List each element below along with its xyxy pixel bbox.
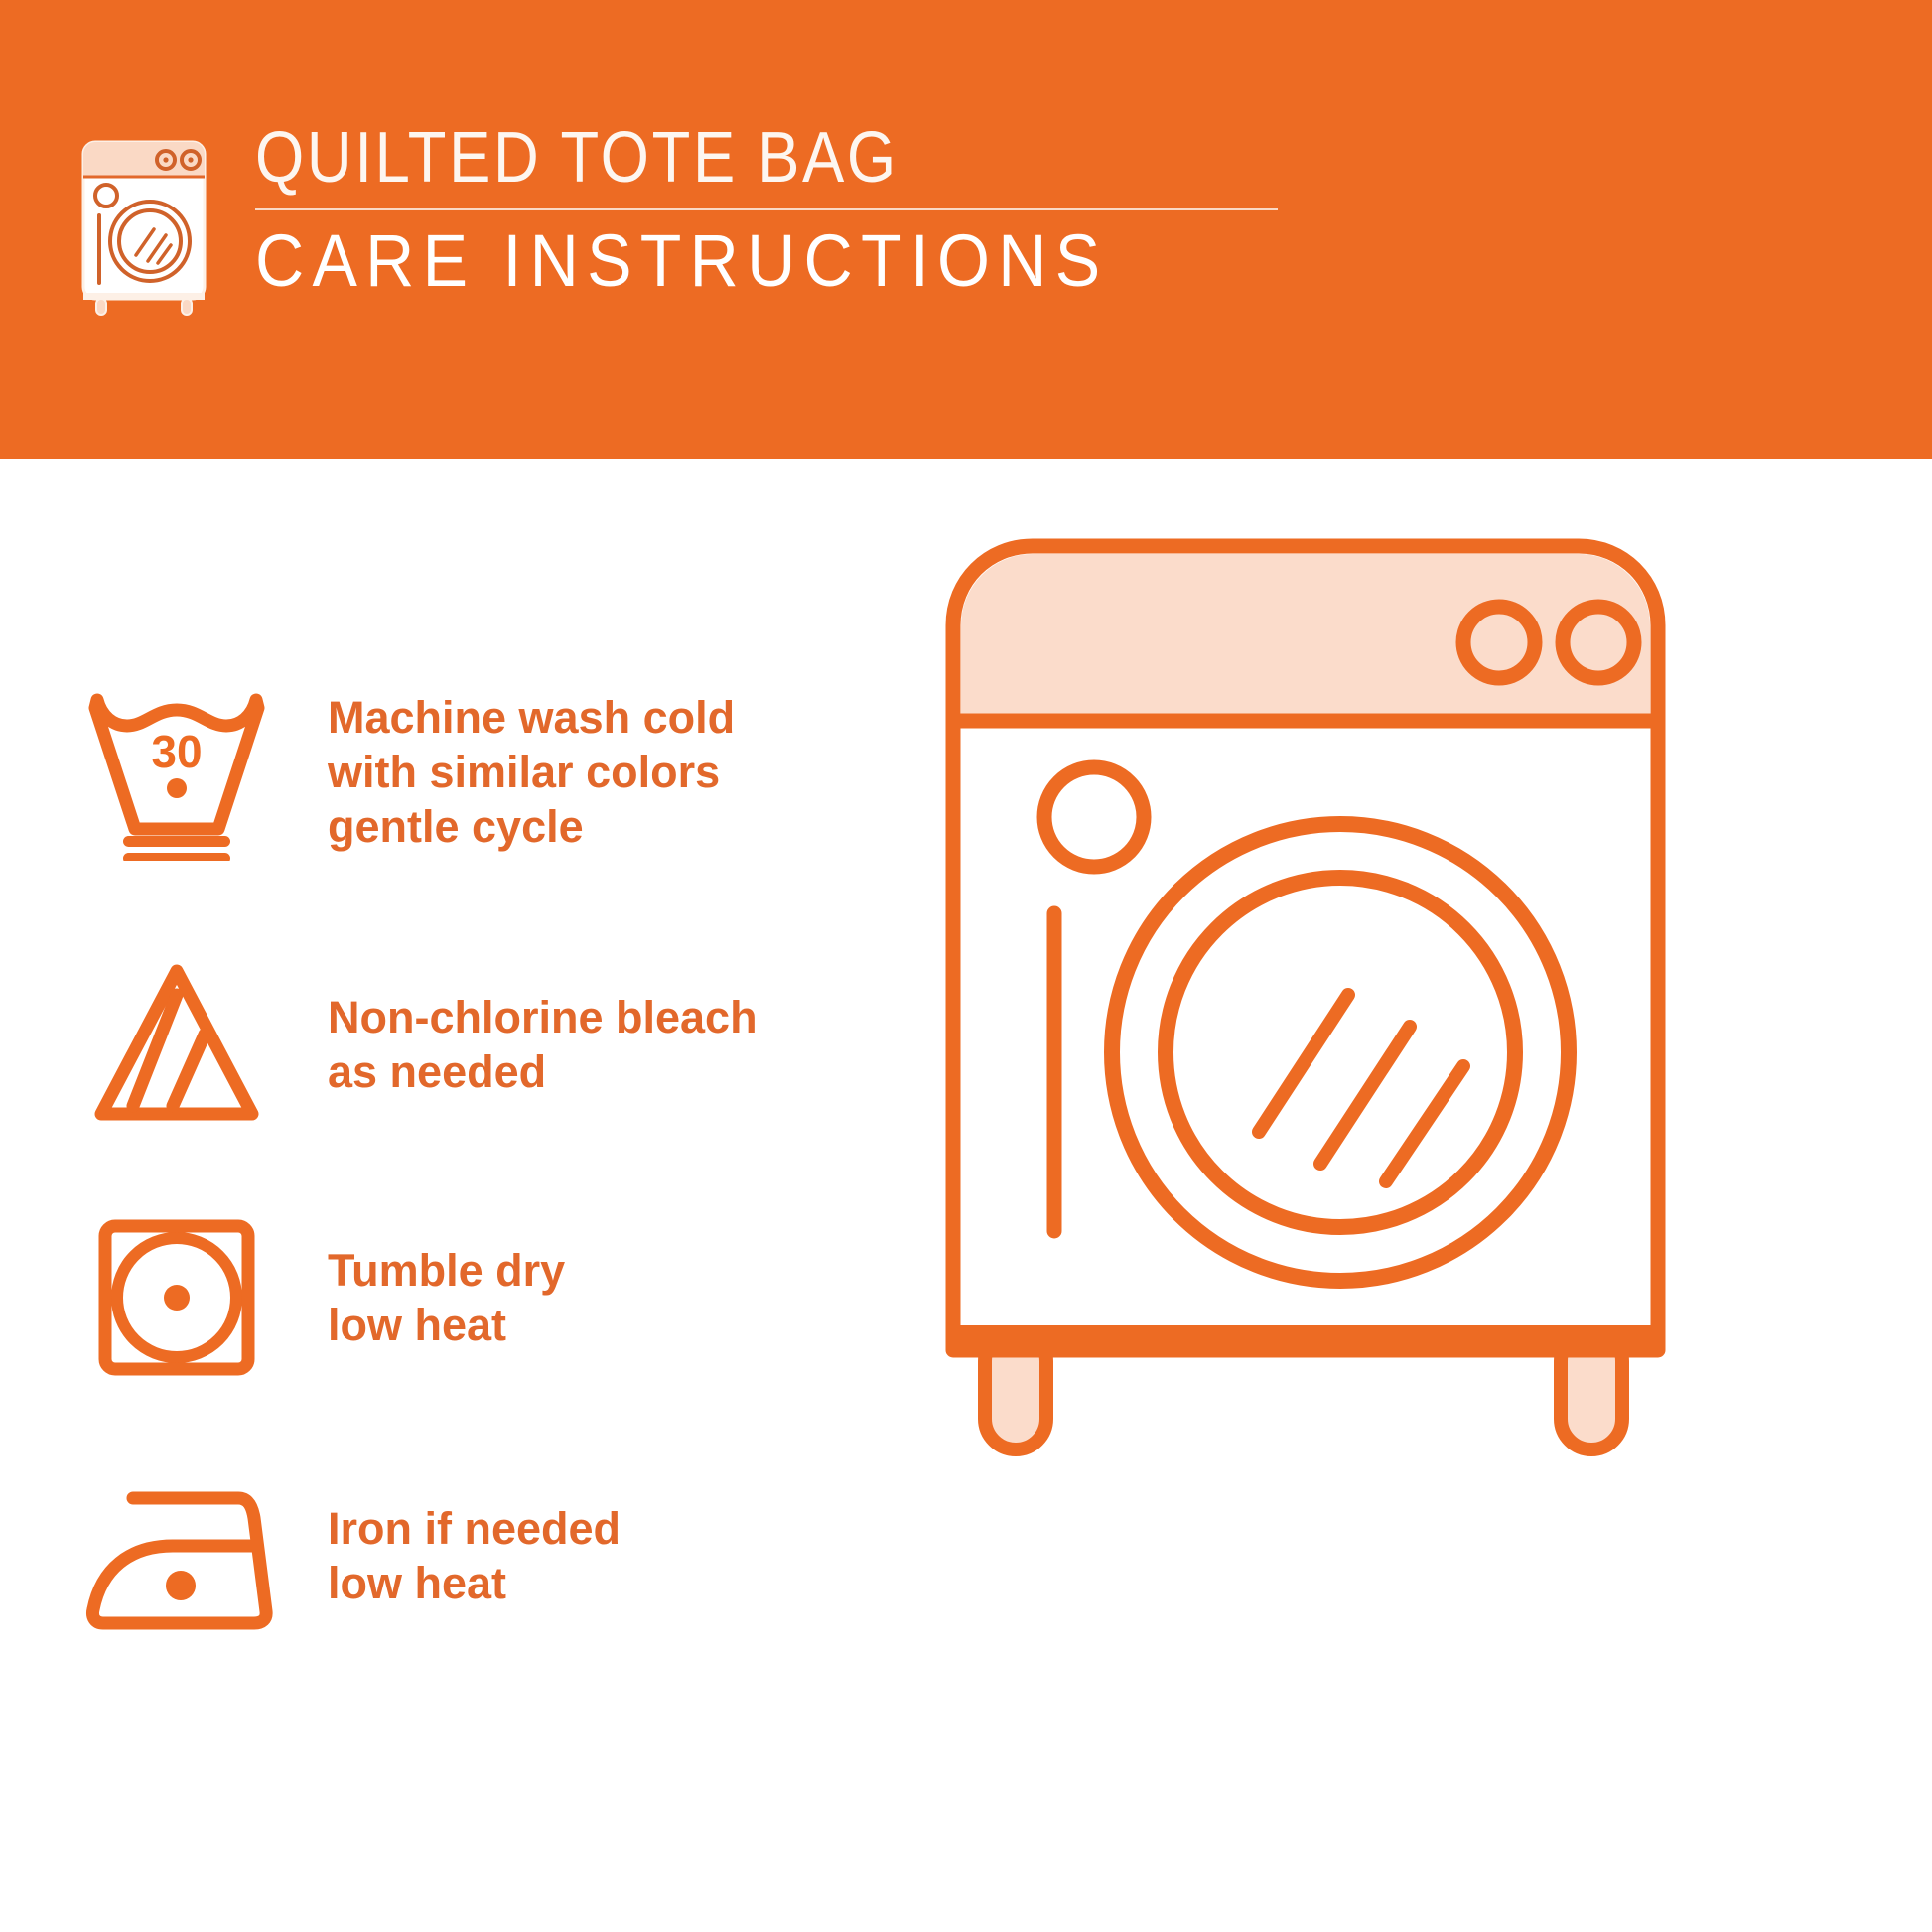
page-header: QUILTED TOTE BAG CARE INSTRUCTIONS xyxy=(0,0,1932,459)
header-content: QUILTED TOTE BAG CARE INSTRUCTIONS xyxy=(74,119,1278,318)
care-label-line: Tumble dry xyxy=(328,1243,565,1298)
washing-machine-illustration xyxy=(943,536,1737,1529)
care-label-line: as needed xyxy=(328,1044,758,1099)
care-item-label: Tumble dry low heat xyxy=(328,1243,565,1352)
care-label-line: Iron if needed xyxy=(328,1501,621,1556)
wash-temperature-value: 30 xyxy=(151,726,202,777)
care-item-label: Machine wash cold with similar colors ge… xyxy=(328,690,735,854)
care-label-line: Non-chlorine bleach xyxy=(328,990,758,1044)
page-subtitle: CARE INSTRUCTIONS xyxy=(255,220,1196,302)
care-item-iron: Iron if needed low heat xyxy=(77,1456,931,1655)
care-item-machine-wash: 30 Machine wash cold with similar colors… xyxy=(77,672,931,871)
washing-machine-icon xyxy=(74,134,213,318)
care-label-line: gentle cycle xyxy=(328,799,735,854)
page-title: QUILTED TOTE BAG xyxy=(255,119,1155,197)
care-item-tumble-dry: Tumble dry low heat xyxy=(77,1198,931,1397)
tumble-dry-low-heat-icon xyxy=(77,1198,276,1397)
iron-low-heat-icon xyxy=(77,1456,276,1655)
care-label-line: low heat xyxy=(328,1298,565,1352)
care-label-line: Machine wash cold xyxy=(328,690,735,745)
care-item-label: Non-chlorine bleach as needed xyxy=(328,990,758,1099)
care-instructions-list: 30 Machine wash cold with similar colors… xyxy=(0,459,943,1932)
wash-tub-30-gentle-icon: 30 xyxy=(77,672,276,871)
care-label-line: low heat xyxy=(328,1556,621,1610)
title-divider xyxy=(255,208,1278,210)
non-chlorine-bleach-triangle-icon xyxy=(77,945,276,1144)
header-text-block: QUILTED TOTE BAG CARE INSTRUCTIONS xyxy=(255,119,1278,302)
care-label-line: with similar colors xyxy=(328,745,735,799)
care-item-bleach: Non-chlorine bleach as needed xyxy=(77,945,931,1144)
care-item-label: Iron if needed low heat xyxy=(328,1501,621,1610)
